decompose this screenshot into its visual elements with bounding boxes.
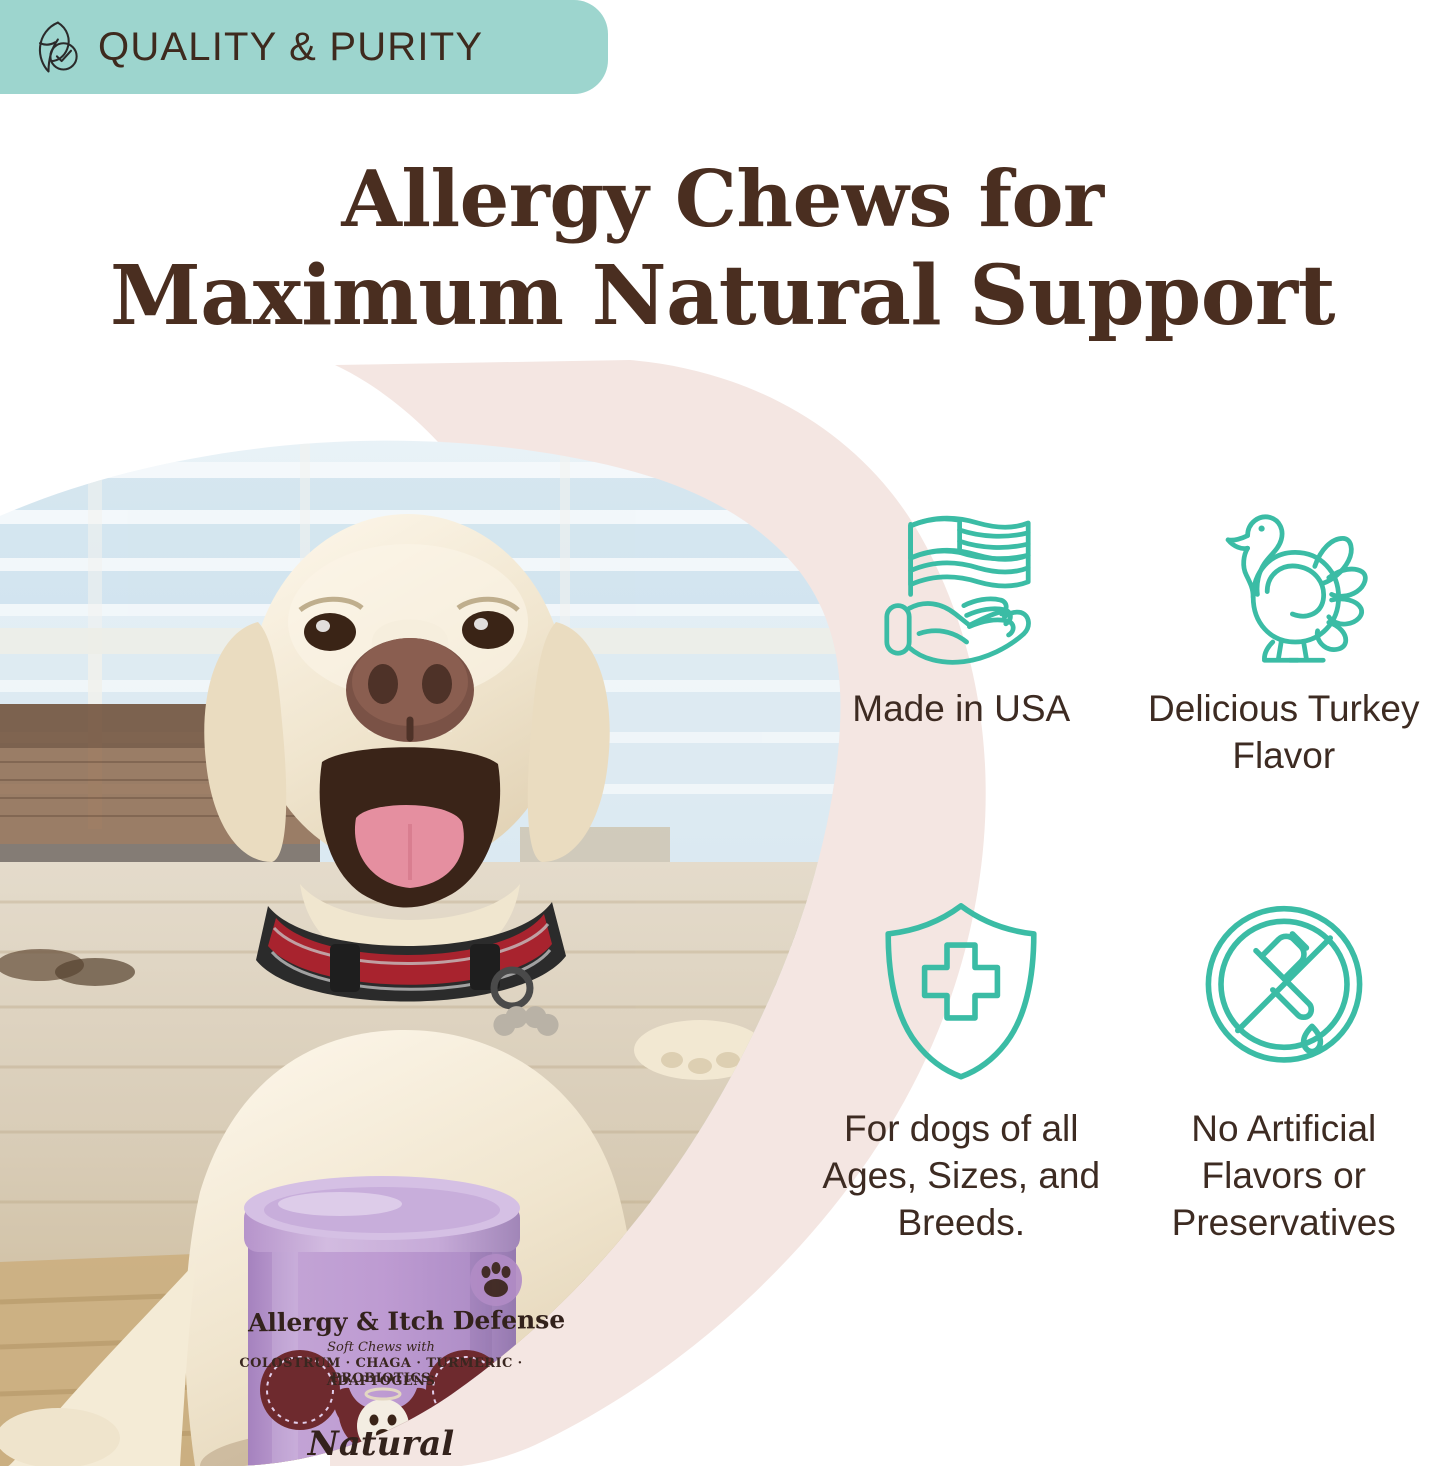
jar-ingredients-line-2: ADAPTOGENS: [256, 1374, 506, 1389]
infographic-canvas: Allergy & Itch Defense Soft Chews with C…: [0, 0, 1445, 1466]
feature-made-in-usa: Made in USA: [800, 495, 1123, 890]
feature-no-artificial: No Artificial Flavors or Preservatives: [1123, 890, 1445, 1285]
leaf-check-icon: [26, 17, 86, 77]
jar-product-title: Allergy & Itch Defense: [248, 1306, 508, 1338]
feature-label: For dogs of all Ages, Sizes, and Breeds.: [816, 1105, 1106, 1246]
feature-label: Made in USA: [852, 685, 1070, 732]
feature-all-dogs: For dogs of all Ages, Sizes, and Breeds.: [800, 890, 1123, 1285]
headline-line-1: Allergy Chews for: [0, 152, 1445, 248]
headline-line-2: Maximum Natural Support: [0, 248, 1445, 344]
jar-brand-name: Natural: [256, 1424, 506, 1464]
turkey-icon: [1200, 501, 1368, 671]
jar-subtitle: Soft Chews with: [256, 1340, 506, 1355]
feature-grid: Made in USA: [800, 495, 1445, 1285]
badge-label: QUALITY & PURITY: [98, 25, 483, 70]
feature-label: Delicious Turkey Flavor: [1139, 685, 1429, 779]
no-dropper-icon: [1200, 896, 1368, 1081]
shield-medical-cross-icon: [877, 896, 1045, 1081]
page-title: Allergy Chews for Maximum Natural Suppor…: [0, 152, 1445, 344]
feature-turkey-flavor: Delicious Turkey Flavor: [1123, 495, 1445, 890]
flag-in-hand-icon: [877, 501, 1045, 671]
quality-purity-badge: QUALITY & PURITY: [0, 0, 608, 94]
feature-label: No Artificial Flavors or Preservatives: [1139, 1105, 1429, 1246]
